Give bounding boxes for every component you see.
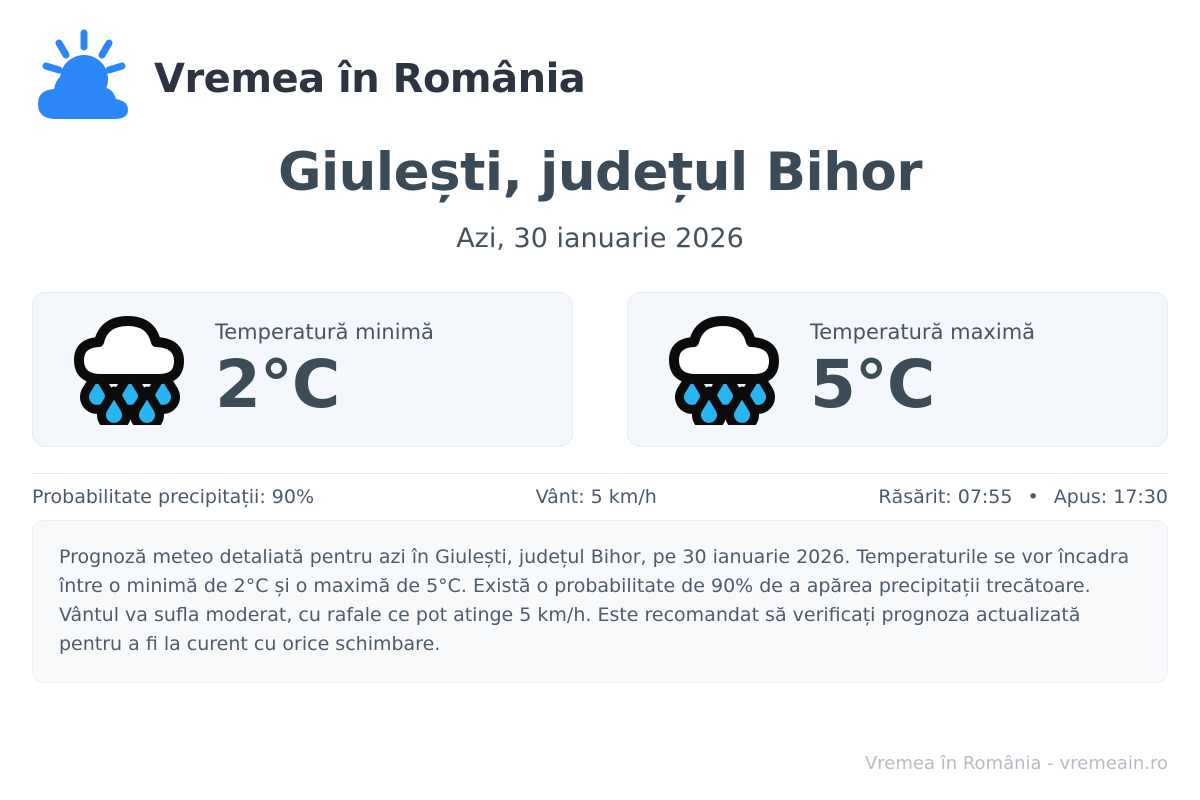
forecast-description: Prognoză meteo detaliată pentru azi în G… xyxy=(32,520,1168,684)
stat-sunset: Apus: 17:30 xyxy=(1054,486,1168,508)
footer-credit: Vremea în România - vremeain.ro xyxy=(865,753,1168,774)
temperature-label: Temperatură maximă xyxy=(810,321,1035,344)
stat-wind: Vânt: 5 km/h xyxy=(314,486,878,508)
temperature-value: 5°C xyxy=(810,352,1035,418)
stat-sunrise: Răsărit: 07:55 xyxy=(878,486,1012,508)
rain-cloud-icon xyxy=(71,313,189,425)
temperature-card-text: Temperatură maximă 5°C xyxy=(810,321,1035,418)
site-brand[interactable]: Vremea în România xyxy=(32,0,1168,110)
temperature-card-text: Temperatură minimă 2°C xyxy=(215,321,434,418)
stats-row: Probabilitate precipitații: 90% Vânt: 5 … xyxy=(32,474,1168,520)
sun-behind-cloud-icon xyxy=(32,27,136,131)
stat-sun-times: Răsărit: 07:55 • Apus: 17:30 xyxy=(878,486,1168,508)
temperature-card-min: Temperatură minimă 2°C xyxy=(32,292,573,447)
stat-precipitation: Probabilitate precipitații: 90% xyxy=(32,486,314,508)
rain-cloud-icon xyxy=(666,313,784,425)
page-subtitle: Azi, 30 ianuarie 2026 xyxy=(32,224,1168,254)
temperature-value: 2°C xyxy=(215,352,434,418)
temperature-card-max: Temperatură maximă 5°C xyxy=(627,292,1168,447)
temperature-label: Temperatură minimă xyxy=(215,321,434,344)
bullet-separator-icon: • xyxy=(1019,486,1048,508)
temperature-card-list: Temperatură minimă 2°C Temper xyxy=(32,292,1168,447)
weather-page: Vremea în România Giulești, județul Biho… xyxy=(0,0,1200,800)
page-title: Giulești, județul Bihor xyxy=(32,144,1168,202)
title-block: Giulești, județul Bihor Azi, 30 ianuarie… xyxy=(32,144,1168,254)
brand-name: Vremea în România xyxy=(154,57,585,102)
